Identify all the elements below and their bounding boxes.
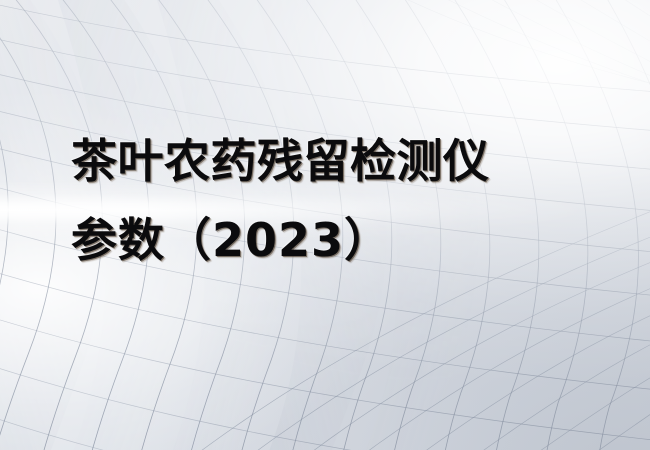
slide-title: 茶叶农药残留检测仪 参数（2023）	[71, 122, 631, 280]
title-slide: 茶叶农药残留检测仪 参数（2023）	[0, 0, 650, 450]
title-line-2: 参数（2023）	[71, 201, 631, 280]
title-line-1: 茶叶农药残留检测仪	[71, 122, 631, 201]
